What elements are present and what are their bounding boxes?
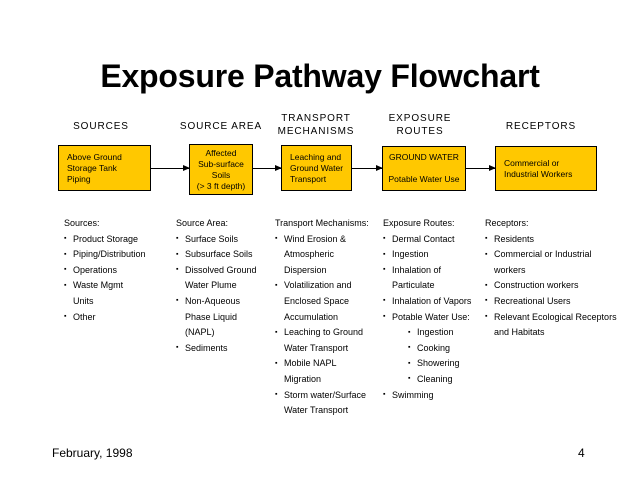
list-item-continuation: Accumulation [275, 310, 387, 326]
list-item: Construction workers [485, 278, 640, 294]
list-item: Non-Aqueous [176, 294, 286, 310]
list-sub-item: Cleaning [383, 372, 493, 388]
flow-box-line: GROUND WATER [389, 152, 459, 163]
list-item-continuation: Migration [275, 372, 387, 388]
list-sub-item: Showering [383, 356, 493, 372]
column-header-line1: SOURCES [73, 121, 129, 132]
footer-page-number: 4 [578, 446, 585, 460]
list-item: Operations [64, 263, 179, 279]
flow-box-line: Affected [205, 148, 236, 159]
list-item: Potable Water Use: [383, 310, 493, 326]
flow-box-exposure[interactable]: GROUND WATER Potable Water Use [382, 146, 466, 191]
list-item: Other [64, 310, 179, 326]
list-item: Waste Mgmt [64, 278, 179, 294]
arrow-sources-to-source-area [151, 168, 189, 169]
list-receptors: Receptors: Residents Commercial or Indus… [485, 216, 640, 341]
column-header-line1: EXPOSURE [389, 113, 452, 124]
flow-box-sources[interactable]: Above Ground Storage Tank Piping [58, 145, 151, 191]
list-item: Dissolved Ground [176, 263, 286, 279]
list-item: Volatilization and [275, 278, 387, 294]
page-title: Exposure Pathway Flowchart [0, 57, 640, 95]
list-item: Ingestion [383, 247, 493, 263]
arrow-exposure-to-receptors [466, 168, 495, 169]
list-item-continuation: (NAPL) [176, 325, 286, 341]
list-item: Sediments [176, 341, 286, 357]
list-heading: Exposure Routes: [383, 216, 493, 232]
flow-box-line: Soils [212, 170, 230, 181]
list-item-continuation: workers [485, 263, 640, 279]
flow-box-line: Above Ground [67, 152, 122, 163]
list-sub-item: Cooking [383, 341, 493, 357]
column-header-receptors: RECEPTORS [476, 120, 606, 133]
flow-box-source-area[interactable]: Affected Sub-surface Soils (> 3 ft depth… [189, 144, 253, 195]
arrow-source-area-to-transport [253, 168, 281, 169]
column-header-line2: ROUTES [396, 126, 443, 137]
column-header-sources: SOURCES [36, 120, 166, 133]
list-item: Subsurface Soils [176, 247, 286, 263]
list-heading: Transport Mechanisms: [275, 216, 387, 232]
list-item: Swimming [383, 388, 493, 404]
footer-date: February, 1998 [52, 446, 133, 460]
list-item-continuation: Water Plume [176, 278, 286, 294]
list-item-continuation: and Habitats [485, 325, 640, 341]
list-source-area: Source Area: Surface Soils Subsurface So… [176, 216, 286, 356]
flow-box-line: Storage Tank [67, 163, 117, 174]
column-header-exposure-routes: EXPOSURE ROUTES [355, 112, 485, 138]
list-item-continuation: Phase Liquid [176, 310, 286, 326]
list-transport-mechanisms: Transport Mechanisms: Wind Erosion & Atm… [275, 216, 387, 419]
flow-box-line: Potable Water Use [388, 174, 459, 185]
flow-box-line: (> 3 ft depth) [197, 181, 245, 192]
flow-box-line: Sub-surface [198, 159, 244, 170]
list-heading: Sources: [64, 216, 179, 232]
flow-box-line: Industrial Workers [504, 169, 572, 180]
list-item-continuation: Water Transport [275, 341, 387, 357]
list-item: Residents [485, 232, 640, 248]
list-item: Commercial or Industrial [485, 247, 640, 263]
slide-canvas: Exposure Pathway Flowchart SOURCES SOURC… [0, 0, 640, 480]
list-item-continuation: Units [64, 294, 179, 310]
column-header-line1: TRANSPORT [281, 113, 351, 124]
list-item-continuation: Water Transport [275, 403, 387, 419]
flow-box-receptors[interactable]: Commercial or Industrial Workers [495, 146, 597, 191]
list-item: Product Storage [64, 232, 179, 248]
column-header-line1: RECEPTORS [506, 121, 576, 132]
list-item: Leaching to Ground [275, 325, 387, 341]
list-item: Wind Erosion & [275, 232, 387, 248]
arrow-transport-to-exposure [352, 168, 382, 169]
list-item-continuation: Atmospheric [275, 247, 387, 263]
column-header-line2: MECHANISMS [278, 126, 355, 137]
list-item: Piping/Distribution [64, 247, 179, 263]
list-item-continuation: Dispersion [275, 263, 387, 279]
list-item: Recreational Users [485, 294, 640, 310]
list-item: Inhalation of Vapors [383, 294, 493, 310]
flow-box-transport[interactable]: Leaching and Ground Water Transport [281, 145, 352, 191]
flow-box-line: Commercial or [504, 158, 559, 169]
list-sources: Sources: Product Storage Piping/Distribu… [64, 216, 179, 325]
list-item: Relevant Ecological Receptors [485, 310, 640, 326]
list-item: Inhalation of [383, 263, 493, 279]
flow-box-line: Ground Water [290, 163, 343, 174]
list-item: Dermal Contact [383, 232, 493, 248]
list-item-continuation: Enclosed Space [275, 294, 387, 310]
list-heading: Source Area: [176, 216, 286, 232]
list-item: Storm water/Surface [275, 388, 387, 404]
list-item: Mobile NAPL [275, 356, 387, 372]
list-item-continuation: Particulate [383, 278, 493, 294]
list-heading: Receptors: [485, 216, 640, 232]
list-sub-item: Ingestion [383, 325, 493, 341]
flow-box-line: Piping [67, 174, 91, 185]
list-exposure-routes: Exposure Routes: Dermal Contact Ingestio… [383, 216, 493, 403]
column-header-line1: SOURCE AREA [180, 121, 262, 132]
flow-box-line: Transport [290, 174, 326, 185]
flow-box-line: Leaching and [290, 152, 341, 163]
list-item: Surface Soils [176, 232, 286, 248]
